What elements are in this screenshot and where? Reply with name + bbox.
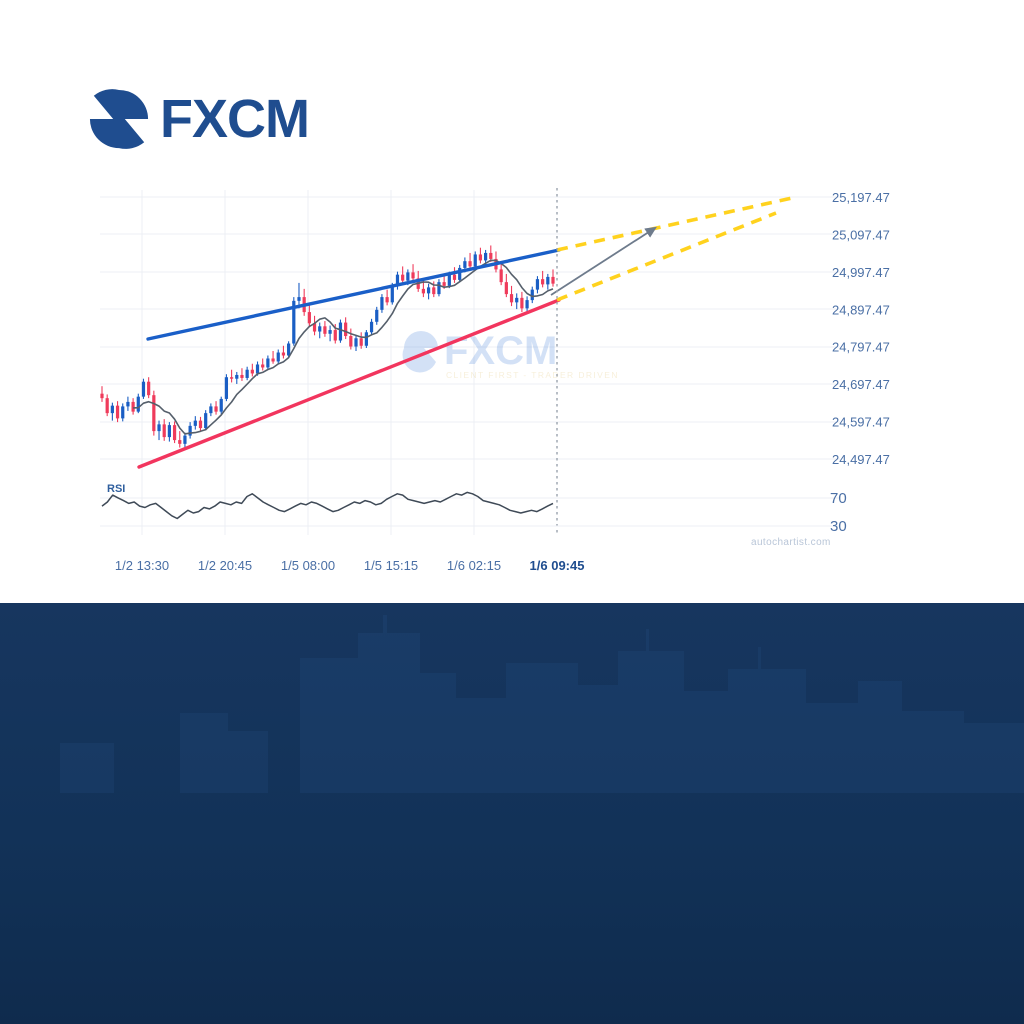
candle-body [106,398,109,413]
candle-body [116,406,119,419]
candle-body [225,377,228,399]
candle-body [422,289,425,293]
chart-canvas: FXCM CLIENT FIRST - TRADER DRIVEN [0,180,1024,580]
price-axis-labels: 25,197.4725,097.4724,997.4724,897.4724,7… [832,190,890,467]
candle-body [339,323,342,341]
rsi-panel: RSI 70 30 autochartist.com [100,483,847,548]
candle-body [297,297,300,301]
candle-body [240,375,243,378]
candle-body [147,382,150,395]
candle-body [520,298,523,308]
candle-body [536,279,539,289]
fxcm-chart-watermark: FXCM CLIENT FIRST - TRADER DRIVEN [403,329,619,380]
price-axis-label: 24,597.47 [832,415,890,430]
fxcm-z-mark-icon [88,88,150,150]
candle-body [142,382,145,397]
price-axis-label: 24,797.47 [832,340,890,355]
candle-body [453,275,456,280]
time-axis-label: 1/5 08:00 [281,558,335,573]
time-axis-label: 1/2 20:45 [198,558,252,573]
candle-body [386,297,389,302]
rsi-level-70: 70 [830,490,847,507]
candle-body [163,424,166,437]
projection-upper-line [557,198,792,250]
candle-body [220,399,223,412]
candle-body [427,287,430,293]
watermark-text: FXCM [444,329,557,373]
candle-body [525,300,528,308]
candle-body [209,406,212,413]
candle-body [235,375,238,379]
cityscape-silhouette [0,603,1024,793]
candle-body [111,406,114,413]
candle-body [334,330,337,340]
candle-body [349,336,352,346]
time-axis-labels: 1/2 13:301/2 20:451/5 08:001/5 15:151/6 … [115,558,585,573]
candle-body [365,332,368,345]
candle-body [230,377,233,378]
candle-body [541,279,544,284]
candle-body [137,397,140,412]
candle-body [489,253,492,259]
fxcm-logo: FXCM [88,88,309,150]
chart-section: FXCM [0,0,1024,603]
candle-body [126,402,129,406]
candle-body [391,286,394,302]
candle-body [354,338,357,346]
candle-body [318,326,321,331]
autochartist-watermark: autochartist.com [751,537,831,548]
candle-body [432,287,435,294]
candle-body [551,277,554,284]
candle-body [256,364,259,373]
time-axis-label: 1/5 15:15 [364,558,418,573]
candle-body [287,344,290,356]
candle-body [437,282,440,294]
candle-body [204,413,207,428]
candle-body [505,282,508,294]
price-chart: FXCM CLIENT FIRST - TRADER DRIVEN [0,180,1024,580]
candle-body [328,330,331,334]
candle-body [277,353,280,362]
candle-body [344,323,347,336]
info-panel: GER30 DAX Germany Index 15 MINUTES Targe… [0,603,1024,1024]
candle-body [443,282,446,286]
candle-body [380,297,383,310]
candle-body [448,275,451,286]
candle-body [152,395,155,431]
candle-body [199,421,202,428]
candle-body [173,425,176,440]
projection-lower-line [557,213,776,300]
price-axis-label: 25,097.47 [832,227,890,242]
horizontal-gridlines [100,197,840,459]
candle-body [261,364,264,367]
candle-body [214,406,217,411]
time-axis-label: 1/6 09:45 [530,558,585,573]
price-axis-label: 25,197.47 [832,190,890,205]
candle-body [360,338,363,345]
candle-body [468,261,471,266]
candle-body [546,277,549,284]
candle-body [189,426,192,436]
rsi-title: RSI [107,483,125,495]
candle-body [194,421,197,426]
candle-body [178,440,181,444]
candle-body [474,254,477,266]
candle-body [515,298,518,302]
time-axis-label: 1/6 02:15 [447,558,501,573]
candle-body [500,269,503,282]
candle-body [100,394,103,398]
candle-body [479,254,482,260]
candle-body [510,294,513,302]
candle-body [168,425,171,437]
candle-body [411,272,414,278]
candle-body [308,312,311,323]
candle-body [323,326,326,333]
candle-body [131,402,134,412]
candle-body [121,406,124,418]
price-axis-label: 24,697.47 [832,377,890,392]
time-axis-label: 1/2 13:30 [115,558,169,573]
candle-body [406,272,409,280]
candle-body [183,436,186,444]
rsi-level-30: 30 [830,518,847,535]
candle-body [157,424,160,431]
rsi-line [102,492,553,518]
candle-body [251,370,254,374]
candle-body [375,310,378,322]
price-axis-label: 24,997.47 [832,265,890,280]
fxcm-logo-text: FXCM [160,92,309,146]
candle-body [282,353,285,356]
candle-body [484,253,487,260]
price-axis-label: 24,897.47 [832,302,890,317]
candle-body [271,358,274,361]
watermark-tagline: CLIENT FIRST - TRADER DRIVEN [446,370,619,380]
candle-body [401,275,404,281]
candle-body [246,370,249,378]
candle-body [266,358,269,367]
candle-body [370,322,373,332]
candle-body [463,261,466,268]
price-axis-label: 24,497.47 [832,452,890,467]
